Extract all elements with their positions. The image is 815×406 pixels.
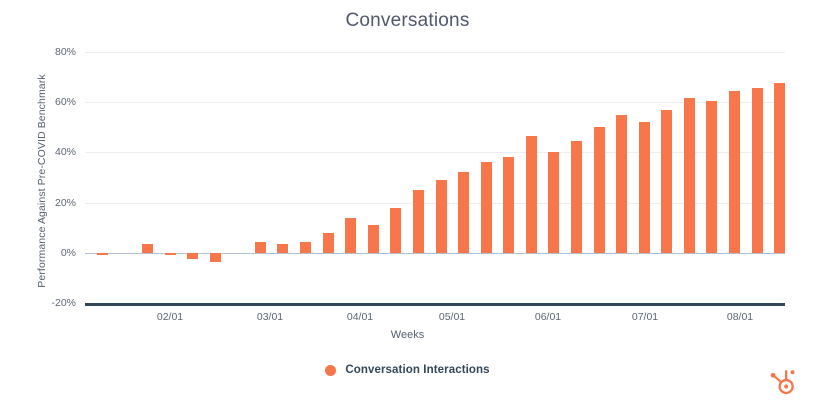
bar [436,180,447,253]
y-axis-tick-label: 60% [55,96,76,108]
bar [277,244,288,253]
legend-marker-icon [325,365,336,376]
bar [255,242,266,253]
bar [571,141,582,253]
x-axis-tick-label: 05/01 [439,311,465,323]
gridline: 80% [85,52,785,53]
x-axis-tick-label: 03/01 [257,311,283,323]
x-axis-title: Weeks [0,329,815,341]
conversations-bar-chart: Conversations Performance Against Pre-CO… [0,0,815,406]
bar [616,115,627,253]
y-axis-tick-label: 80% [55,46,76,58]
bar [413,190,424,253]
y-axis-tick-label: 40% [55,146,76,158]
bar [503,157,514,252]
x-axis-tick-label: 06/01 [535,311,561,323]
x-axis-tick-label: 07/01 [632,311,658,323]
bar [323,233,334,253]
x-axis-tick-label: 02/01 [157,311,183,323]
bar [97,253,108,256]
bar [548,152,559,252]
y-axis-title: Performance Against Pre-COVID Benchmark [36,46,48,316]
gridline: 40% [85,152,785,153]
bar [774,83,785,252]
bar [684,98,695,252]
bar [458,172,469,252]
bar [165,253,176,256]
bar [706,101,717,253]
x-axis-tick-label: 08/01 [727,311,753,323]
y-axis-tick-label: 20% [55,197,76,209]
chart-title: Conversations [0,10,815,32]
y-axis-tick-label: 0% [61,247,76,259]
bar [639,122,650,253]
y-axis-tick-label: -20% [51,297,76,309]
bar [729,91,740,253]
axis-baseline: -20% [85,303,785,306]
bar [210,253,221,262]
legend-label: Conversation Interactions [345,364,489,376]
bar [752,88,763,252]
bar [187,253,198,259]
bar [142,244,153,253]
gridline: 60% [85,102,785,103]
hubspot-sprocket-logo [765,364,801,400]
bar [661,110,672,253]
bar [368,225,379,253]
bar [594,127,605,253]
bar [481,162,492,252]
bar [345,218,356,253]
x-axis-tick-label: 04/01 [347,311,373,323]
plot-area: 80%60%40%20%0%-20%02/0103/0104/0105/0106… [85,52,785,303]
bar [390,208,401,253]
bar [300,242,311,253]
chart-legend: Conversation Interactions [0,364,815,376]
bar [526,136,537,253]
